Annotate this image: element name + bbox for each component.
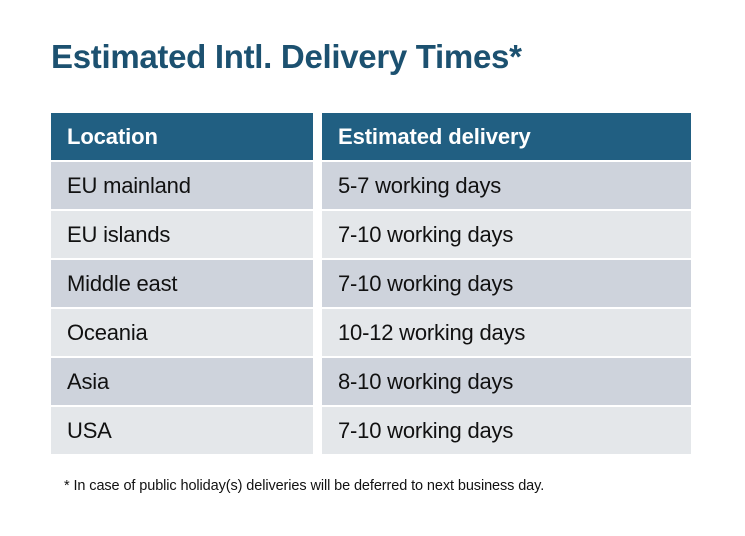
- table-row: EU mainland 5-7 working days: [51, 162, 691, 209]
- cell-location: Oceania: [51, 309, 313, 356]
- table-row: Asia 8-10 working days: [51, 358, 691, 405]
- column-header-location: Location: [51, 113, 313, 160]
- column-divider: [313, 309, 322, 356]
- page-title: Estimated Intl. Delivery Times*: [51, 38, 522, 76]
- cell-estimated-delivery: 8-10 working days: [322, 358, 691, 405]
- column-divider: [313, 162, 322, 209]
- column-divider: [313, 113, 322, 160]
- delivery-times-table: Location Estimated delivery EU mainland …: [51, 113, 691, 456]
- cell-estimated-delivery: 7-10 working days: [322, 407, 691, 454]
- delivery-times-page: Estimated Intl. Delivery Times* Location…: [0, 0, 745, 536]
- table-header-row: Location Estimated delivery: [51, 113, 691, 160]
- cell-location: EU mainland: [51, 162, 313, 209]
- cell-estimated-delivery: 10-12 working days: [322, 309, 691, 356]
- table-row: Oceania 10-12 working days: [51, 309, 691, 356]
- cell-estimated-delivery: 7-10 working days: [322, 260, 691, 307]
- column-divider: [313, 260, 322, 307]
- cell-estimated-delivery: 5-7 working days: [322, 162, 691, 209]
- table-row: Middle east 7-10 working days: [51, 260, 691, 307]
- cell-location: Asia: [51, 358, 313, 405]
- cell-estimated-delivery: 7-10 working days: [322, 211, 691, 258]
- table-row: USA 7-10 working days: [51, 407, 691, 454]
- footnote: * In case of public holiday(s) deliverie…: [64, 478, 544, 494]
- cell-location: USA: [51, 407, 313, 454]
- column-header-estimated-delivery: Estimated delivery: [322, 113, 691, 160]
- column-divider: [313, 407, 322, 454]
- cell-location: Middle east: [51, 260, 313, 307]
- column-divider: [313, 358, 322, 405]
- table-row: EU islands 7-10 working days: [51, 211, 691, 258]
- column-divider: [313, 211, 322, 258]
- cell-location: EU islands: [51, 211, 313, 258]
